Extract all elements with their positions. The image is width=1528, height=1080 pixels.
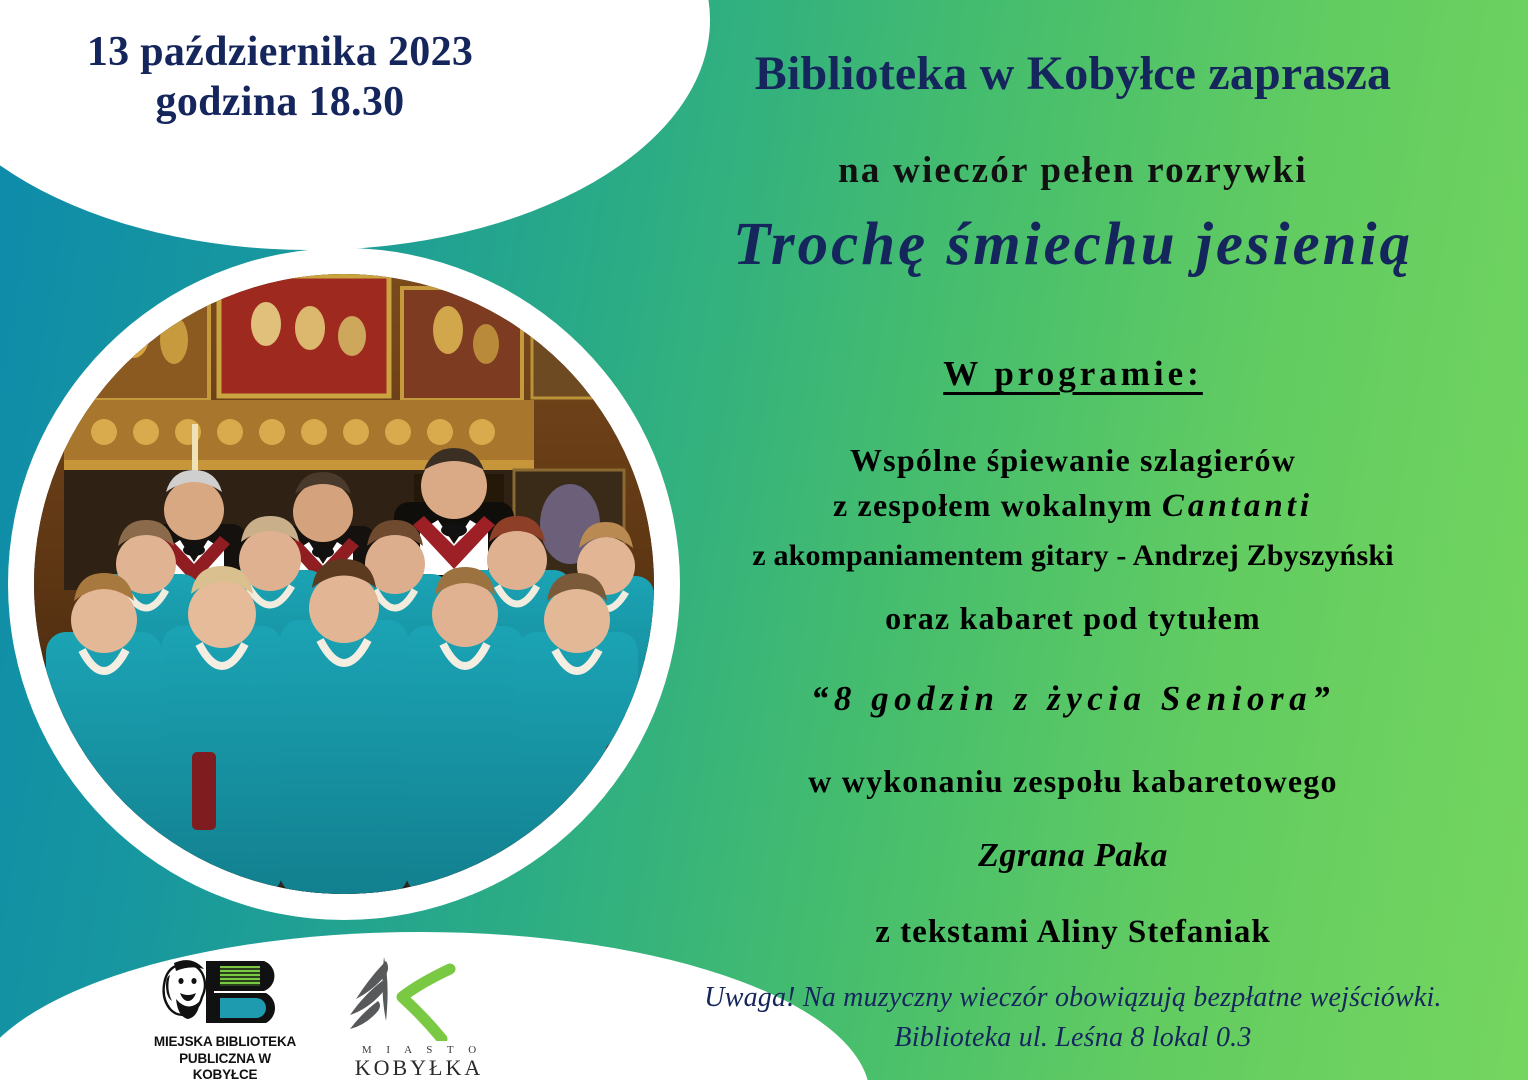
logo-row: MIEJSKA BIBLIOTEKA PUBLICZNA W KOBYŁCE I… <box>150 955 530 1080</box>
footnote-line-1: Uwaga! Na muzyczny wieczór obowiązują be… <box>618 978 1528 1018</box>
event-date: 13 października 2023 <box>0 28 560 78</box>
event-time: godzina 18.30 <box>0 78 560 128</box>
program-line-2-prefix: z zespołem wokalnym <box>833 487 1162 523</box>
city-logo: M I A S T O KOBYŁKA <box>334 955 504 1079</box>
library-logo-icon <box>150 955 300 1027</box>
city-logo-icon <box>334 955 504 1041</box>
city-logo-line2: KOBYŁKA <box>334 1056 504 1079</box>
poster-main-title: Trochę śmiechu jesienią <box>618 210 1528 280</box>
event-date-block: 13 października 2023 godzina 18.30 <box>0 28 560 127</box>
library-logo-line1: MIEJSKA BIBLIOTEKA <box>150 1034 300 1049</box>
program-line-1: Wspólne śpiewanie szlagierów <box>618 440 1528 481</box>
poster-subline: na wieczór pełen rozrywki <box>618 149 1528 192</box>
cabaret-title: “8 godzin z życia Seniora” <box>618 679 1528 719</box>
poster-text-column: Biblioteka w Kobyłce zaprasza na wieczór… <box>618 0 1528 1080</box>
event-poster: 13 października 2023 godzina 18.30 <box>0 0 1528 1080</box>
poster-headline: Biblioteka w Kobyłce zaprasza <box>618 46 1528 101</box>
program-heading: W programie: <box>618 354 1528 394</box>
library-logo-line2: PUBLICZNA W KOBYŁCE <box>150 1051 300 1080</box>
footnote-line-2: Biblioteka ul. Leśna 8 lokal 0.3 <box>618 1018 1528 1058</box>
troupe-name: Zgrana Paka <box>618 837 1528 875</box>
poster-footnote: Uwaga! Na muzyczny wieczór obowiązują be… <box>618 978 1528 1058</box>
program-line-4: oraz kabaret pod tytułem <box>618 598 1528 639</box>
program-line-5: w wykonaniu zespołu kabaretowego <box>618 761 1528 802</box>
program-line-6: z tekstami Aliny Stefaniak <box>618 911 1528 953</box>
program-line-3: z akompaniamentem gitary - Andrzej Zbysz… <box>618 537 1528 575</box>
choir-photo-circle <box>8 248 680 920</box>
ensemble-name: Cantanti <box>1162 488 1313 524</box>
choir-photo-illustration <box>34 274 654 894</box>
choir-photo <box>34 274 654 894</box>
program-line-2: z zespołem wokalnym Cantanti <box>618 485 1528 527</box>
library-logo: MIEJSKA BIBLIOTEKA PUBLICZNA W KOBYŁCE I… <box>150 955 300 1080</box>
